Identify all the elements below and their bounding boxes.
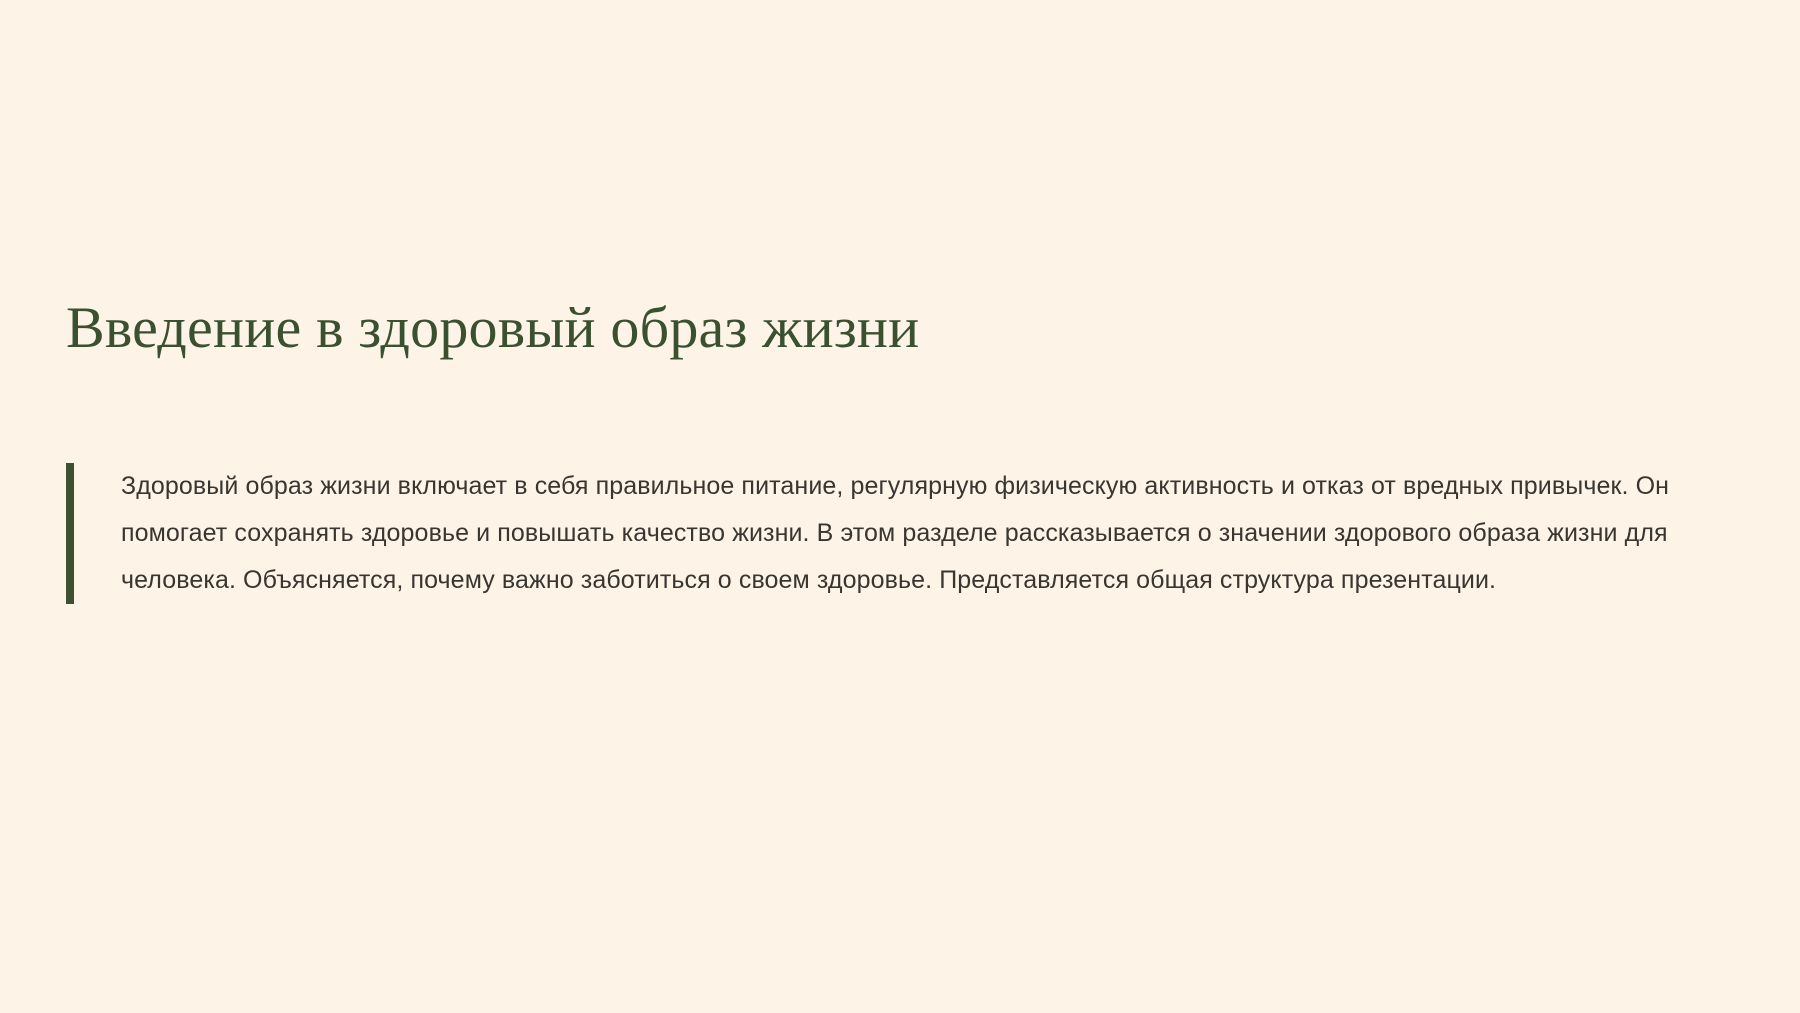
slide-body-block: Здоровый образ жизни включает в себя пра… bbox=[66, 463, 1738, 604]
accent-rule bbox=[66, 463, 74, 604]
slide-body-text: Здоровый образ жизни включает в себя пра… bbox=[74, 463, 1738, 604]
presentation-slide: Введение в здоровый образ жизни Здоровый… bbox=[0, 0, 1800, 1013]
slide-title: Введение в здоровый образ жизни bbox=[66, 296, 1726, 361]
